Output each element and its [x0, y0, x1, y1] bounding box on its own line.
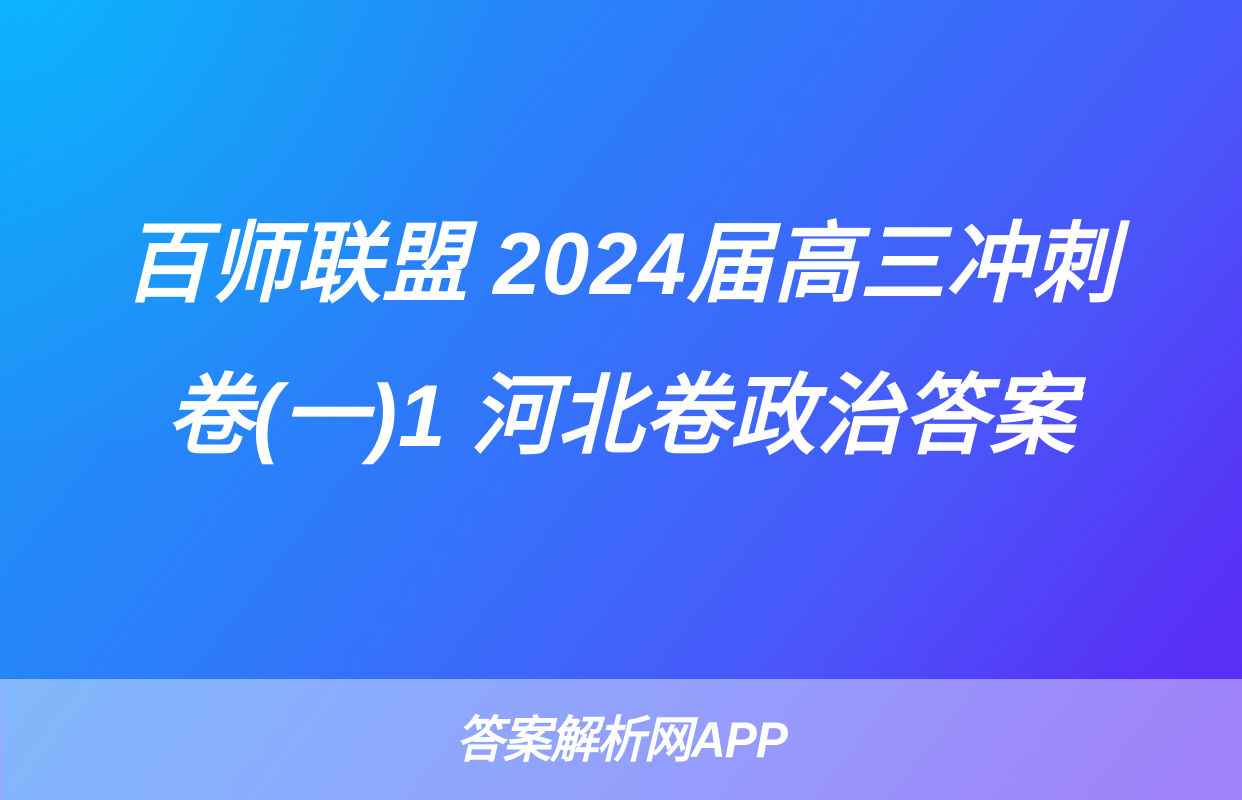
footer-watermark-band: 答案解析网APP: [0, 679, 1242, 800]
page-title: 百师联盟 2024届高三冲刺卷(一)1 河北卷政治答案: [97, 188, 1145, 492]
title-block: 百师联盟 2024届高三冲刺卷(一)1 河北卷政治答案: [0, 0, 1242, 679]
watermark-label: 答案解析网APP: [455, 715, 786, 765]
title-card-canvas: 百师联盟 2024届高三冲刺卷(一)1 河北卷政治答案 答案解析网APP: [0, 0, 1242, 800]
